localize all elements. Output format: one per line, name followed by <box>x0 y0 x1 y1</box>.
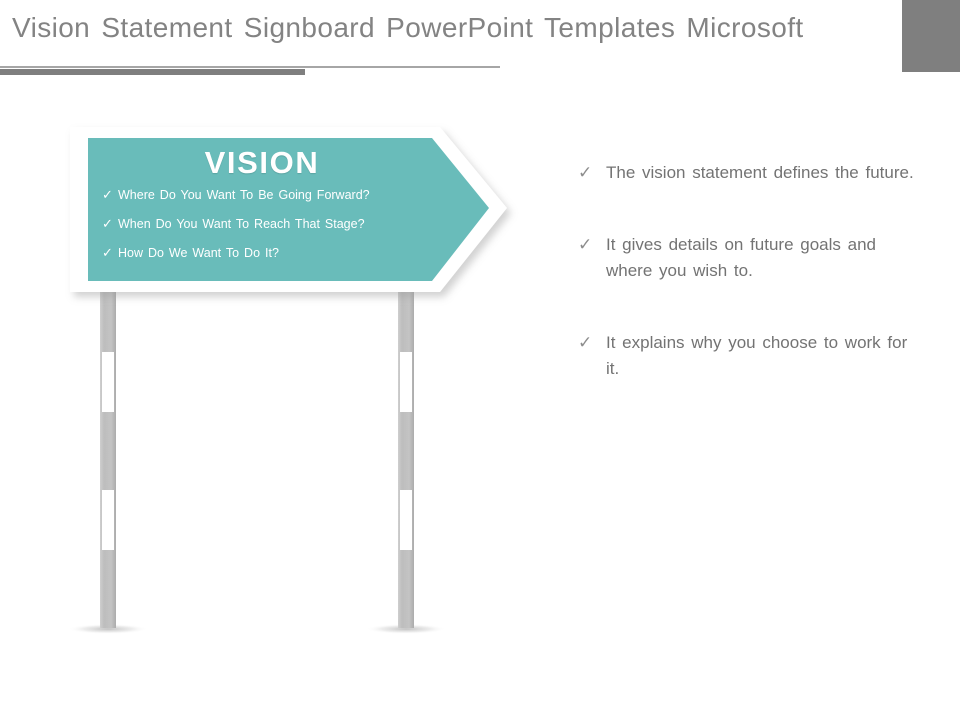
header-corner-block <box>902 0 960 72</box>
signboard-graphic: VISION ✓ Where Do You Want To Be Going F… <box>0 0 560 660</box>
sign-bullet-item: ✓ When Do You Want To Reach That Stage? <box>102 216 432 232</box>
list-item-label: It explains why you choose to work for i… <box>606 330 918 382</box>
sign-bullet-label: How Do We Want To Do It? <box>118 245 432 261</box>
check-icon: ✓ <box>102 245 118 261</box>
list-item-label: The vision statement defines the future. <box>606 160 918 186</box>
signboard-svg <box>0 0 560 660</box>
list-item: ✓ It gives details on future goals and w… <box>578 232 918 284</box>
check-icon: ✓ <box>578 232 606 258</box>
list-item: ✓ It explains why you choose to work for… <box>578 330 918 382</box>
check-icon: ✓ <box>102 187 118 203</box>
sign-text-block: VISION ✓ Where Do You Want To Be Going F… <box>92 140 432 290</box>
list-item: ✓ The vision statement defines the futur… <box>578 160 918 186</box>
pole-left <box>100 288 116 628</box>
sign-bullet-item: ✓ Where Do You Want To Be Going Forward? <box>102 187 432 203</box>
sign-bullet-item: ✓ How Do We Want To Do It? <box>102 245 432 261</box>
sign-bullet-list: ✓ Where Do You Want To Be Going Forward?… <box>92 187 432 261</box>
sign-bullet-label: When Do You Want To Reach That Stage? <box>118 216 432 232</box>
pole-right <box>398 288 414 628</box>
points-list: ✓ The vision statement defines the futur… <box>578 160 918 428</box>
sign-bullet-label: Where Do You Want To Be Going Forward? <box>118 187 432 203</box>
check-icon: ✓ <box>578 160 606 186</box>
list-item-label: It gives details on future goals and whe… <box>606 232 918 284</box>
vision-heading: VISION <box>92 145 432 181</box>
check-icon: ✓ <box>578 330 606 356</box>
check-icon: ✓ <box>102 216 118 232</box>
